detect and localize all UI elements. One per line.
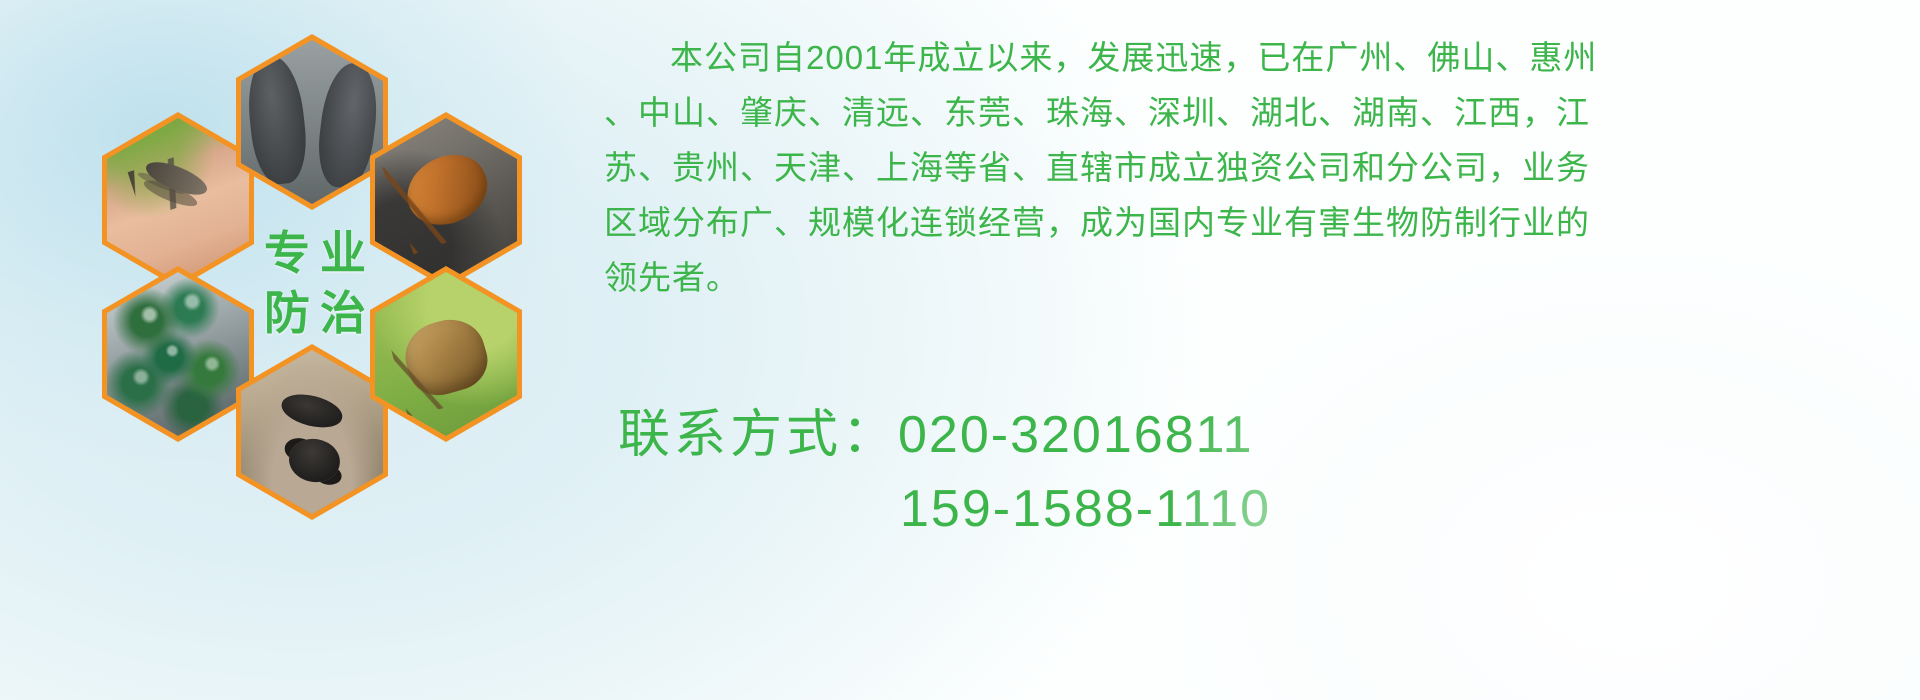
description-line-3: 苏、贵州、天津、上海等省、直辖市成立独资公司和分公司，业务 bbox=[604, 140, 1874, 195]
stink-bug-photo bbox=[370, 266, 522, 442]
flies-photo bbox=[102, 266, 254, 442]
contact-label: 联系方式： bbox=[618, 406, 898, 464]
mosquito-image bbox=[107, 118, 249, 282]
badge-label-line2: 防治 bbox=[254, 290, 376, 336]
stink-bug-image bbox=[375, 272, 517, 436]
cockroach-photo bbox=[370, 112, 522, 288]
badge-label: 专业 防治 bbox=[240, 193, 390, 373]
mosquito-photo bbox=[102, 112, 254, 288]
description-line-1: 本公司自2001年成立以来，发展迅速，已在广州、佛山、惠州 bbox=[604, 30, 1874, 85]
cockroach-image bbox=[375, 118, 517, 282]
contact-secondary-line: 159-1588-1110 bbox=[618, 472, 1908, 546]
contact-primary-line: 联系方式：020-32016811 bbox=[618, 398, 1908, 472]
company-description: 本公司自2001年成立以来，发展迅速，已在广州、佛山、惠州 、中山、肇庆、清远、… bbox=[604, 30, 1874, 305]
ant-image bbox=[241, 350, 383, 514]
badge-label-line1: 专业 bbox=[254, 230, 376, 276]
description-line-2: 、中山、肇庆、清远、东莞、珠海、深圳、湖北、湖南、江西，江 bbox=[604, 85, 1874, 140]
honeycomb-photo-cluster: 专业 防治 bbox=[90, 8, 590, 568]
phone-secondary[interactable]: 159-1588-1110 bbox=[900, 480, 1271, 538]
rats-photo bbox=[236, 34, 388, 210]
phone-primary[interactable]: 020-32016811 bbox=[898, 406, 1254, 464]
description-line-5: 领先者。 bbox=[604, 250, 1874, 305]
promo-banner: 专业 防治 本公司自2001年成立以来，发展迅速，已在广州、佛山、惠州 、中山、… bbox=[0, 0, 1920, 700]
description-line-4: 区域分布广、规模化连锁经营，成为国内专业有害生物防制行业的 bbox=[604, 195, 1874, 250]
rats-image bbox=[241, 40, 383, 204]
contact-block: 联系方式：020-32016811 159-1588-1110 bbox=[618, 398, 1908, 546]
flies-image bbox=[107, 272, 249, 436]
